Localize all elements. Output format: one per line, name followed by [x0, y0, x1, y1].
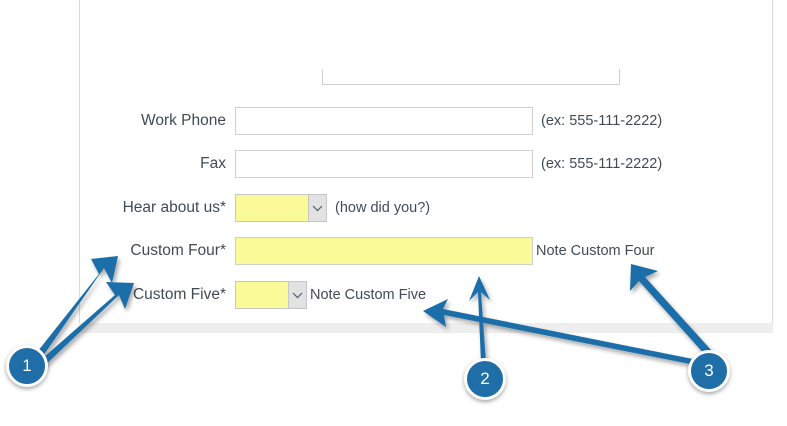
label-fax: Fax — [80, 155, 235, 173]
panel-footer-strip — [79, 323, 773, 333]
form-panel: Work Phone (ex: 555-111-2222) Fax (ex: 5… — [79, 0, 773, 323]
form-row-fax: Fax (ex: 555-111-2222) — [80, 148, 774, 180]
select-custom-five-value — [236, 282, 288, 308]
callout-badge-3[interactable]: 3 — [688, 350, 730, 392]
chevron-down-icon[interactable] — [308, 195, 326, 221]
chevron-down-icon[interactable] — [288, 282, 306, 308]
hint-work-phone: (ex: 555-111-2222) — [533, 113, 662, 129]
hint-custom-five: Note Custom Five — [307, 287, 426, 303]
input-work-phone[interactable] — [235, 107, 533, 135]
hint-hear-about-us: (how did you?) — [327, 200, 430, 216]
label-hear-about-us: Hear about us* — [80, 199, 235, 217]
callout-badge-1[interactable]: 1 — [6, 345, 48, 387]
input-custom-four[interactable] — [235, 237, 533, 265]
clipped-text-input-above[interactable] — [322, 69, 620, 85]
hint-custom-four: Note Custom Four — [533, 243, 654, 259]
form-row-work-phone: Work Phone (ex: 555-111-2222) — [80, 105, 774, 137]
hint-fax: (ex: 555-111-2222) — [533, 156, 662, 172]
select-custom-five[interactable] — [235, 281, 307, 309]
input-fax[interactable] — [235, 150, 533, 178]
select-hear-about-us-value — [236, 195, 308, 221]
callout-badge-2[interactable]: 2 — [464, 358, 506, 400]
callout-badge-1-label: 1 — [22, 356, 31, 376]
callout-badge-2-label: 2 — [480, 369, 489, 389]
form-row-custom-four: Custom Four* Note Custom Four — [80, 235, 774, 267]
label-custom-four: Custom Four* — [80, 242, 235, 260]
callout-badge-3-label: 3 — [704, 361, 713, 381]
select-hear-about-us[interactable] — [235, 194, 327, 222]
label-custom-five: Custom Five* — [80, 286, 235, 304]
screenshot-root: Work Phone (ex: 555-111-2222) Fax (ex: 5… — [0, 0, 787, 426]
label-work-phone: Work Phone — [80, 112, 235, 130]
form-row-hear-about-us: Hear about us* (how did you?) — [80, 192, 774, 224]
form-row-custom-five: Custom Five* Note Custom Five — [80, 279, 774, 311]
